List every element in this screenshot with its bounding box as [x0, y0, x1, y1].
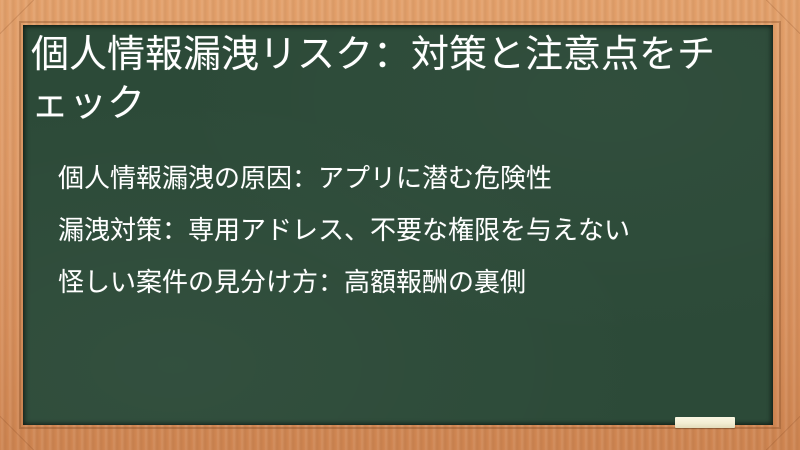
list-item: 怪しい案件の見分け方：高額報酬の裏側 — [58, 256, 751, 308]
chalkboard-graphic: 個人情報漏洩リスク：対策と注意点をチェック 個人情報漏洩の原因：アプリに潜む危険… — [0, 0, 800, 450]
list-item: 個人情報漏洩の原因：アプリに潜む危険性 — [58, 152, 751, 204]
chalk-stick-icon — [675, 417, 735, 428]
topic-list: 個人情報漏洩の原因：アプリに潜む危険性 漏洩対策：専用アドレス、不要な権限を与え… — [31, 152, 751, 308]
chalkboard-surface: 個人情報漏洩リスク：対策と注意点をチェック 個人情報漏洩の原因：アプリに潜む危険… — [23, 25, 773, 425]
board-content: 個人情報漏洩リスク：対策と注意点をチェック 個人情報漏洩の原因：アプリに潜む危険… — [23, 25, 773, 425]
page-title: 個人情報漏洩リスク：対策と注意点をチェック — [31, 31, 751, 129]
list-item: 漏洩対策：専用アドレス、不要な権限を与えない — [58, 204, 751, 256]
